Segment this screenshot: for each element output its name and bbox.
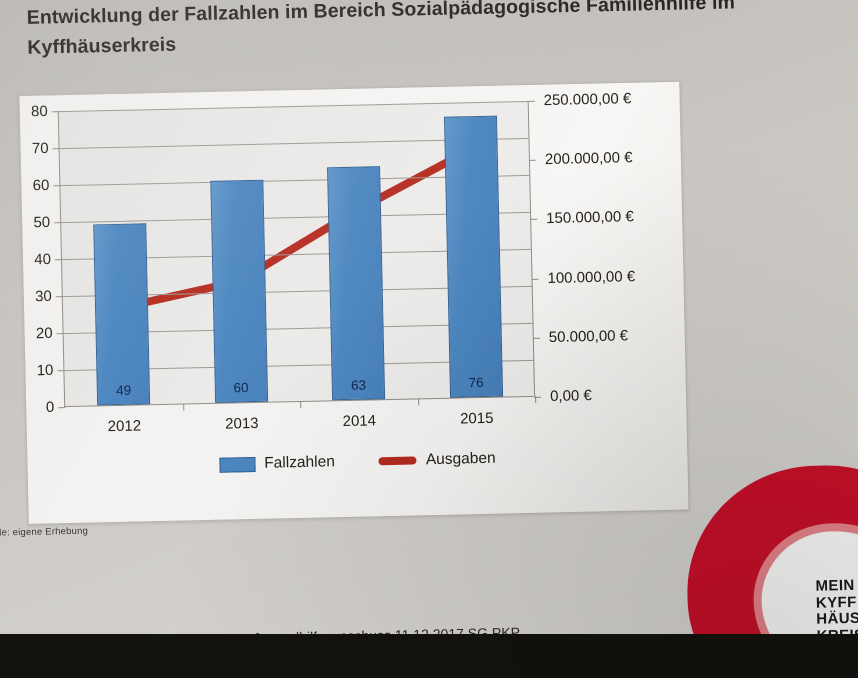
x-axis-label: 2013: [225, 415, 259, 433]
bar-value-label: 60: [215, 380, 266, 396]
left-axis-tick: [54, 222, 61, 223]
bar[interactable]: 76: [444, 115, 503, 397]
bar[interactable]: 49: [94, 223, 151, 405]
legend-item-fallzahlen[interactable]: Fallzahlen: [219, 453, 335, 474]
legend-swatch-bar-icon: [219, 456, 255, 472]
bar-value-label: 76: [450, 375, 501, 391]
ausgaben-polyline: [119, 150, 475, 308]
page-title: Entwicklung der Fallzahlen im Bereich So…: [26, 0, 817, 63]
left-axis-label: 20: [36, 325, 53, 342]
right-axis-tick: [529, 160, 536, 161]
chart-object[interactable]: 010203040506070800,00 €50.000,00 €100.00…: [18, 81, 689, 525]
right-axis-label: 0,00 €: [550, 387, 592, 405]
left-axis-label: 30: [35, 288, 52, 305]
source-note: uelle: eigene Erhebung: [0, 526, 88, 539]
legend-label-ausgaben: Ausgaben: [426, 450, 496, 470]
screenshot-root: Entwicklung der Fallzahlen im Bereich So…: [0, 0, 858, 678]
left-axis-label: 40: [34, 251, 51, 268]
left-axis-label: 70: [32, 140, 49, 157]
left-axis-label: 10: [37, 362, 54, 379]
right-axis-label: 250.000,00 €: [543, 90, 631, 109]
left-axis-tick: [55, 259, 62, 260]
chart-plot-area: 010203040506070800,00 €50.000,00 €100.00…: [58, 101, 534, 407]
right-axis-tick: [530, 219, 537, 220]
x-axis-tick: [535, 396, 536, 403]
left-axis-tick: [52, 111, 59, 112]
right-axis-label: 50.000,00 €: [549, 327, 629, 346]
x-axis-tick: [300, 401, 301, 408]
left-axis-tick: [53, 148, 60, 149]
chart-legend: Fallzahlen Ausgaben: [27, 446, 687, 478]
projected-slide: Entwicklung der Fallzahlen im Bereich So…: [0, 0, 858, 658]
bar-value-label: 49: [98, 382, 149, 398]
left-axis-tick: [57, 333, 64, 334]
left-axis-tick: [57, 370, 64, 371]
right-axis-label: 150.000,00 €: [546, 209, 634, 228]
legend-swatch-line-icon: [379, 456, 417, 465]
left-axis-tick: [53, 185, 60, 186]
kyffhaeuserkreis-logo: MEIN KYFF HÄUSER KREIS Rundum gut: [665, 460, 858, 655]
left-axis-label: 80: [31, 103, 48, 120]
legend-label-fallzahlen: Fallzahlen: [264, 453, 335, 473]
right-axis-tick: [533, 338, 540, 339]
left-axis-label: 0: [46, 399, 55, 416]
screen-bezel: [0, 634, 858, 678]
bar-value-label: 63: [333, 377, 384, 393]
logo-line-1: MEIN: [815, 577, 858, 595]
right-axis-tick: [528, 101, 535, 102]
right-axis-tick: [532, 278, 539, 279]
x-axis-label: 2012: [108, 417, 142, 435]
bar[interactable]: 63: [327, 166, 385, 400]
left-axis-tick: [56, 296, 63, 297]
x-axis-tick: [418, 398, 419, 405]
x-axis-label: 2015: [460, 410, 494, 428]
right-axis-label: 100.000,00 €: [547, 268, 635, 287]
left-axis-label: 60: [32, 177, 49, 194]
right-axis-label: 200.000,00 €: [545, 149, 633, 168]
x-axis-label: 2014: [342, 412, 376, 430]
x-axis-tick: [183, 404, 184, 411]
bar[interactable]: 60: [210, 180, 268, 403]
left-axis-label: 50: [33, 214, 50, 231]
legend-item-ausgaben[interactable]: Ausgaben: [379, 450, 496, 471]
left-axis-tick: [58, 407, 65, 408]
